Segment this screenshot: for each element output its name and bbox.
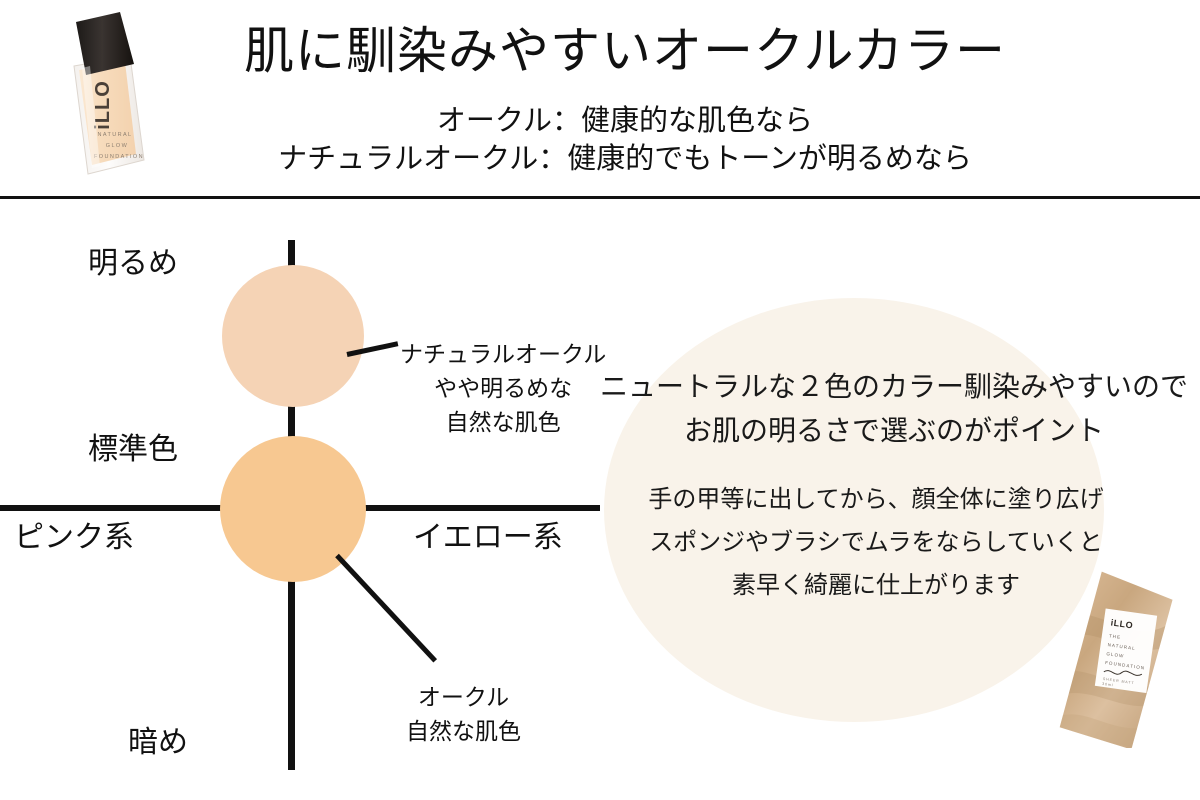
axis-label-bright: 明るめ — [88, 247, 178, 281]
bottle-illustration-icon: iLLO NATURAL GLOW FOUNDATION — [52, 8, 164, 188]
axis-label-pink: ピンク系 — [14, 521, 134, 555]
info-panel-lead: ニュートラルな２色のカラー馴染みやすいので お肌の明るさで選ぶのがポイント — [588, 365, 1200, 453]
callout-ochre-line-1: オークル — [406, 680, 521, 714]
axis-label-yellow: イエロー系 — [413, 521, 563, 555]
info-lead-line-1: ニュートラルな２色のカラー馴染みやすいので — [588, 365, 1200, 409]
callout-natural-line-1: ナチュラルオークル — [400, 337, 606, 371]
svg-text:GLOW: GLOW — [106, 143, 128, 149]
svg-text:NATURAL: NATURAL — [97, 132, 132, 138]
callout-ochre-line-2: 自然な肌色 — [406, 714, 521, 748]
leader-line-ochre — [335, 554, 437, 663]
page-title: 肌に馴染みやすいオークルカラー — [200, 20, 1050, 82]
product-sachet-image: iLLO THE NATURAL GLOW FOUNDATION SHEER M… — [1052, 568, 1200, 748]
subtitle-line-2: ナチュラルオークル：健康的でもトーンが明るめなら — [160, 141, 1090, 177]
header-divider — [0, 196, 1200, 199]
sachet-illustration-icon: iLLO THE NATURAL GLOW FOUNDATION SHEER M… — [1052, 568, 1200, 748]
callout-natural-line-3: 自然な肌色 — [400, 405, 606, 439]
callout-natural-ochre: ナチュラルオークル やや明るめな 自然な肌色 — [400, 337, 606, 439]
callout-ochre: オークル 自然な肌色 — [406, 680, 521, 748]
info-body-line-1: 手の甲等に出してから、顔全体に塗り広げ — [626, 478, 1126, 521]
info-panel-body: 手の甲等に出してから、顔全体に塗り広げ スポンジやブラシでムラをならしていくと … — [626, 478, 1126, 607]
axis-label-standard: 標準色 — [88, 433, 178, 467]
svg-text:FOUNDATION: FOUNDATION — [94, 154, 144, 160]
axis-label-dark: 暗め — [128, 726, 188, 760]
swatch-natural-ochre — [222, 265, 364, 407]
infographic-root: iLLO NATURAL GLOW FOUNDATION 肌に馴染みやすいオーク… — [0, 0, 1200, 800]
info-body-line-3: 素早く綺麗に仕上がります — [626, 564, 1126, 607]
callout-natural-line-2: やや明るめな — [400, 371, 606, 405]
subtitle-line-1: オークル：健康的な肌色なら — [200, 103, 1050, 139]
info-lead-line-2: お肌の明るさで選ぶのがポイント — [588, 409, 1200, 453]
product-bottle-image: iLLO NATURAL GLOW FOUNDATION — [52, 8, 164, 188]
info-body-line-2: スポンジやブラシでムラをならしていくと — [626, 521, 1126, 564]
header: iLLO NATURAL GLOW FOUNDATION 肌に馴染みやすいオーク… — [0, 0, 1200, 197]
